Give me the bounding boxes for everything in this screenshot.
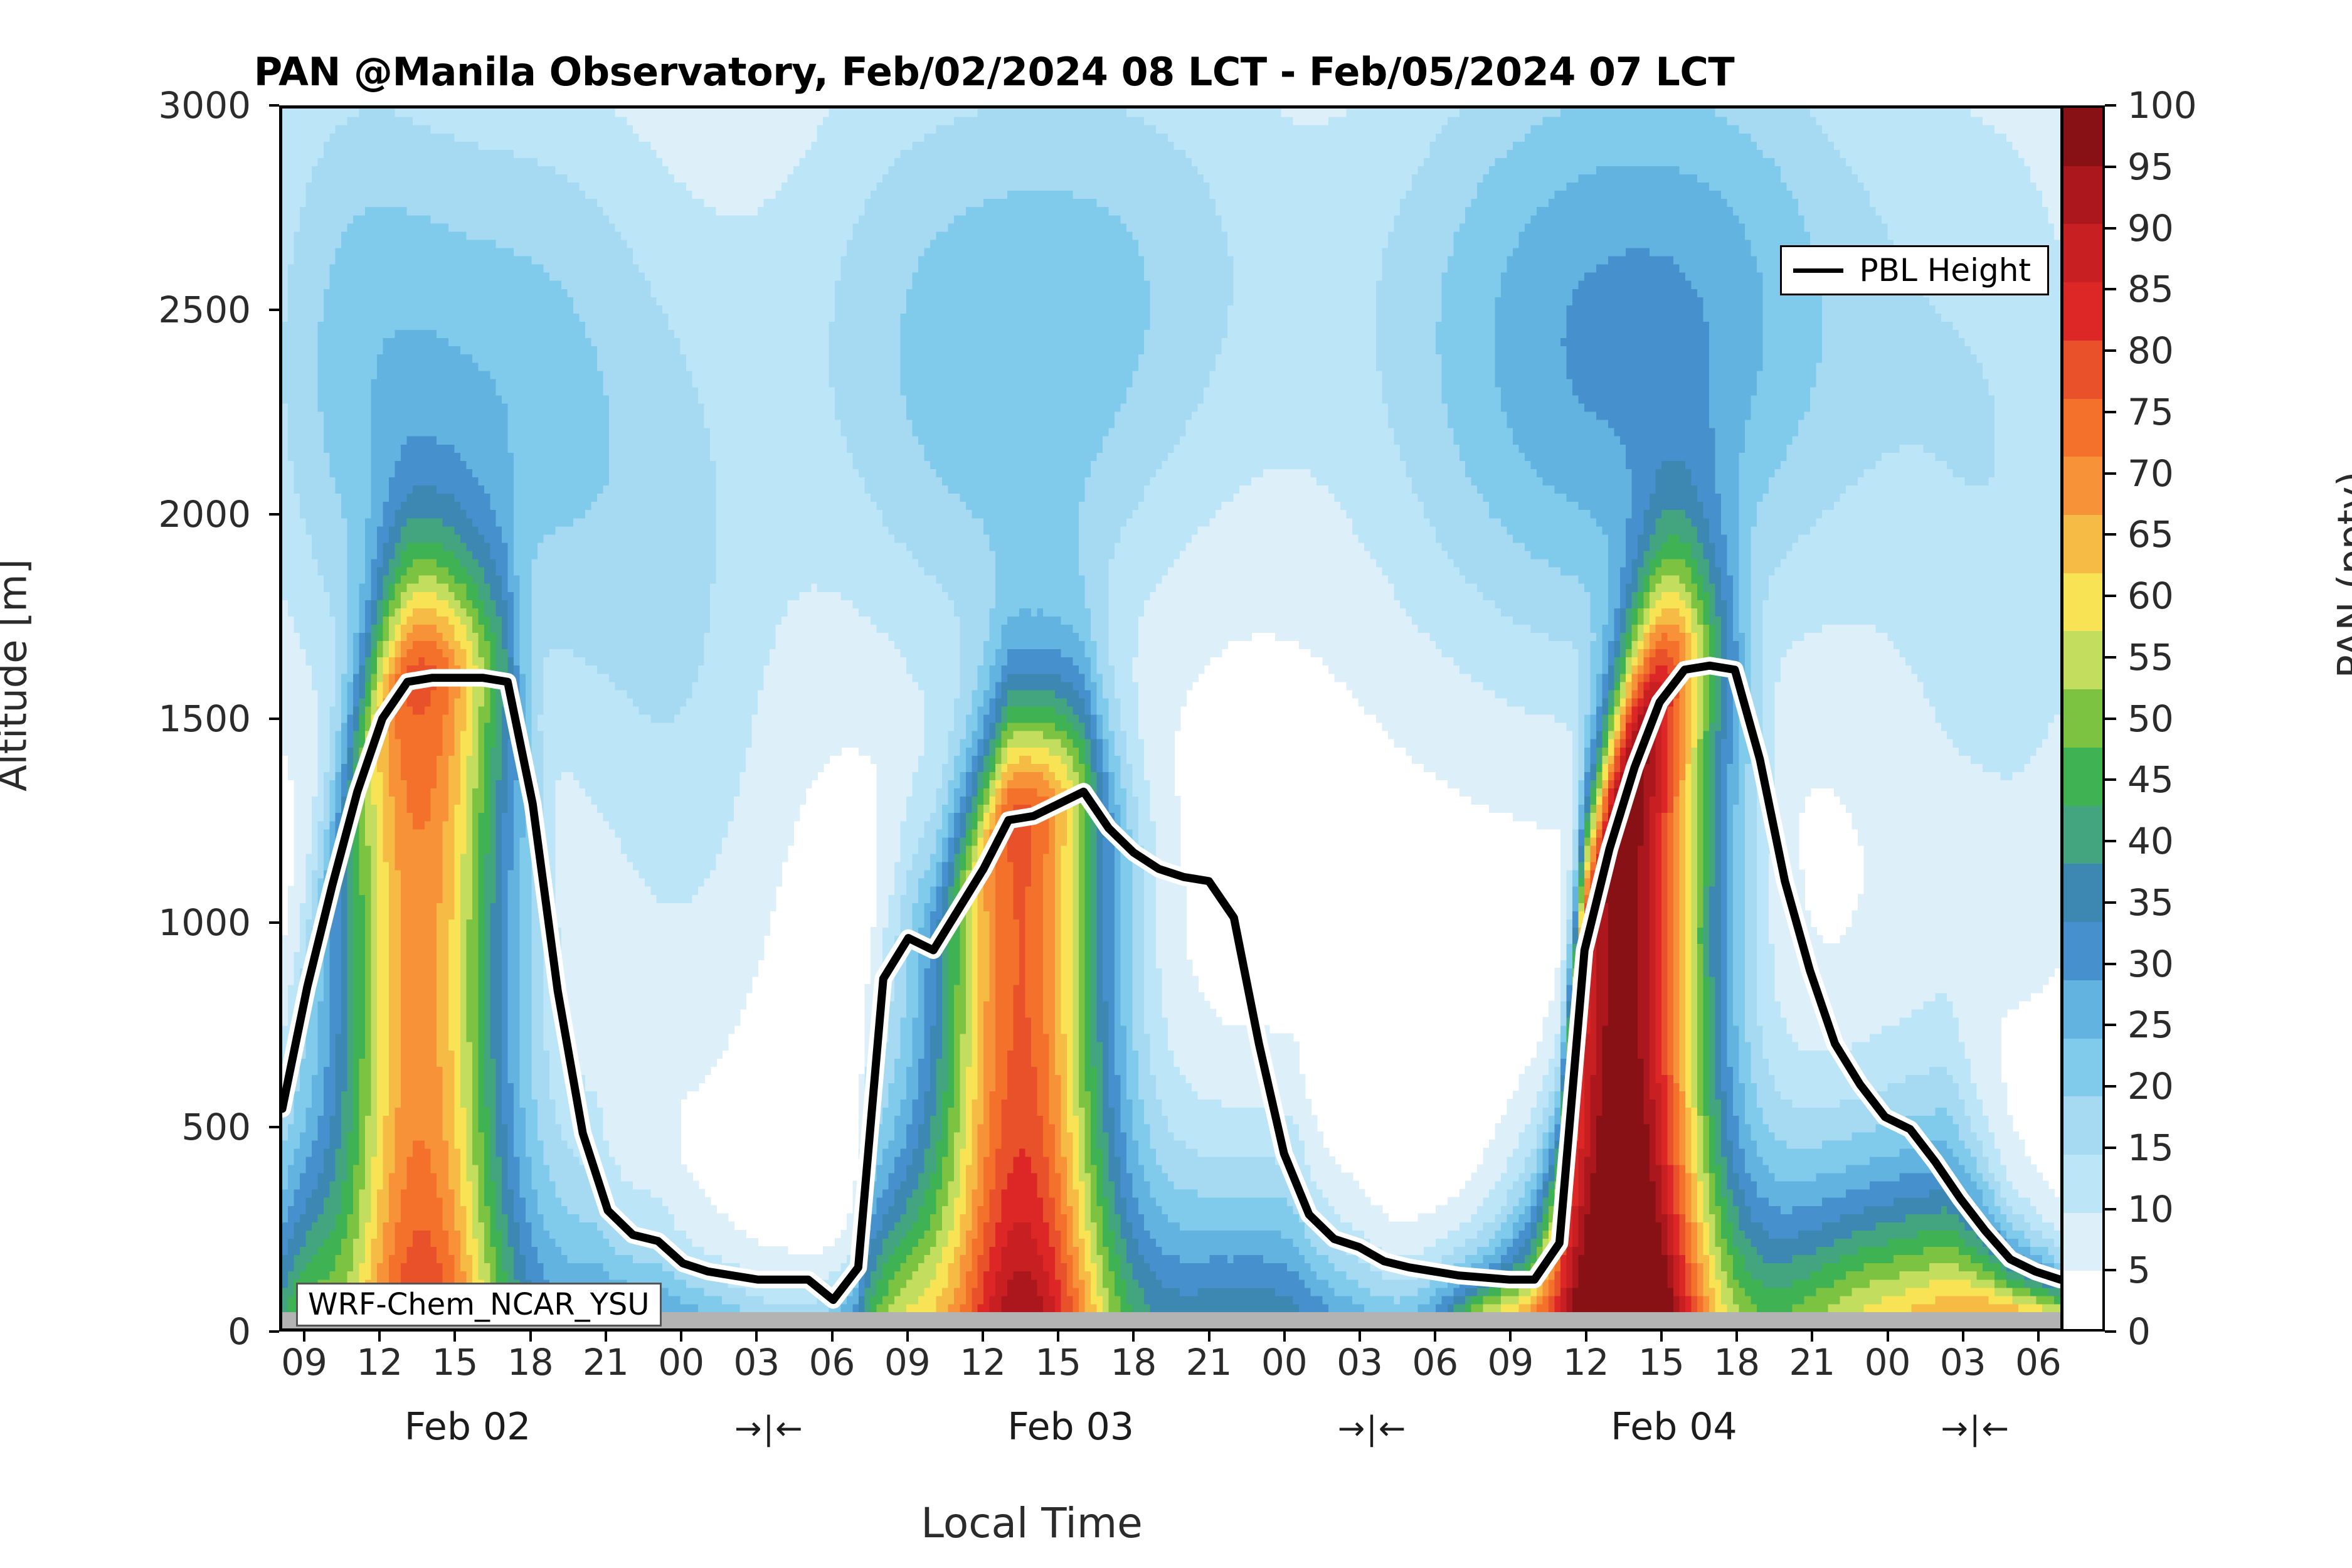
- y-axis-label: Altitude [m]: [0, 393, 36, 958]
- x-axis-tick-mark: [529, 1332, 532, 1342]
- colorbar-tick-mark: [2105, 227, 2116, 230]
- x-axis-day-separator: →|←: [1882, 1410, 2070, 1448]
- colorbar-tick-mark: [2105, 656, 2116, 659]
- colorbar-tick-mark: [2105, 1147, 2116, 1149]
- colorbar-segment: [2063, 864, 2102, 922]
- colorbar-tick-label: 90: [2127, 207, 2272, 250]
- legend-label-pbl-height: PBL Height: [1860, 252, 2032, 289]
- x-axis-tick-mark: [1660, 1332, 1663, 1342]
- colorbar-tick-mark: [2105, 533, 2116, 536]
- colorbar-segment: [2063, 573, 2102, 632]
- x-axis-tick-mark: [982, 1332, 984, 1342]
- x-axis-tick-mark: [1359, 1332, 1361, 1342]
- colorbar-tick-mark: [2105, 778, 2116, 781]
- colorbar-segment: [2063, 631, 2102, 689]
- x-axis-day-label: Feb 03: [945, 1405, 1196, 1449]
- colorbar-tick-mark: [2105, 1330, 2116, 1333]
- colorbar-tick-mark: [2105, 1208, 2116, 1210]
- colorbar-tick-label: 0: [2127, 1310, 2272, 1353]
- x-axis-day-label: Feb 02: [342, 1405, 593, 1449]
- x-axis-tick-mark: [755, 1332, 758, 1342]
- x-axis-tick-mark: [1283, 1332, 1286, 1342]
- colorbar-tick-mark: [2105, 718, 2116, 720]
- colorbar-segment: [2063, 806, 2102, 864]
- y-axis-tick-label: 1000: [44, 901, 251, 944]
- colorbar-segment: [2063, 515, 2102, 573]
- x-axis-tick-mark: [1962, 1332, 1964, 1342]
- colorbar-segment: [2063, 457, 2102, 515]
- x-axis-tick-mark: [1887, 1332, 1889, 1342]
- colorbar-segment: [2063, 748, 2102, 806]
- colorbar-tick-label: 30: [2127, 943, 2272, 985]
- colorbar-tick-mark: [2105, 901, 2116, 904]
- colorbar-tick-label: 15: [2127, 1126, 2272, 1169]
- y-axis-tick-mark: [269, 309, 279, 311]
- colorbar-tick-label: 20: [2127, 1065, 2272, 1108]
- y-axis-tick-mark: [269, 718, 279, 720]
- colorbar-segment: [2063, 980, 2102, 1039]
- y-axis-tick-label: 0: [44, 1310, 251, 1353]
- x-axis-tick-mark: [303, 1332, 305, 1342]
- y-axis-tick-mark: [269, 104, 279, 107]
- colorbar-tick-label: 80: [2127, 329, 2272, 372]
- colorbar-tick-label: 55: [2127, 636, 2272, 679]
- x-axis-tick-mark: [1585, 1332, 1587, 1342]
- colorbar-segment: [2063, 922, 2102, 980]
- x-axis-tick-mark: [1208, 1332, 1210, 1342]
- model-annotation: WRF-Chem_NCAR_YSU: [296, 1283, 662, 1327]
- x-axis-day-separator: →|←: [1278, 1410, 1466, 1448]
- colorbar-tick-label: 10: [2127, 1188, 2272, 1231]
- x-axis-day-separator: →|←: [675, 1410, 863, 1448]
- colorbar-ticks: 0510152025303540455055606570758085909510…: [2105, 105, 2130, 1332]
- colorbar-tick-mark: [2105, 166, 2116, 168]
- colorbar-tick-mark: [2105, 1269, 2116, 1271]
- x-axis-tick-mark: [605, 1332, 607, 1342]
- x-axis-tick-mark: [1434, 1332, 1436, 1342]
- colorbar-tick-label: 40: [2127, 820, 2272, 862]
- x-axis-day-label: Feb 04: [1549, 1405, 1799, 1449]
- colorbar-tick-label: 95: [2127, 146, 2272, 188]
- colorbar-segment: [2063, 282, 2102, 341]
- colorbar-tick-label: 5: [2127, 1249, 2272, 1291]
- colorbar-segment: [2063, 108, 2102, 166]
- x-axis-tick-mark: [1509, 1332, 1512, 1342]
- colorbar-segment: [2063, 1096, 2102, 1155]
- colorbar-tick-label: 85: [2127, 268, 2272, 310]
- y-axis-tick-mark: [269, 921, 279, 924]
- model-annotation-text: WRF-Chem_NCAR_YSU: [308, 1287, 650, 1322]
- x-axis-tick-label: 06: [1988, 1341, 2089, 1384]
- page-title: PAN @Manila Observatory, Feb/02/2024 08 …: [0, 49, 1988, 95]
- x-axis-tick-mark: [1057, 1332, 1059, 1342]
- colorbar-label: PAN (pptv): [2329, 293, 2352, 857]
- colorbar-segment: [2063, 689, 2102, 748]
- x-axis-tick-mark: [378, 1332, 381, 1342]
- y-axis-tick-label: 2000: [44, 493, 251, 536]
- colorbar-tick-label: 25: [2127, 1004, 2272, 1046]
- colorbar-segment: [2063, 341, 2102, 399]
- x-axis-tick-mark: [831, 1332, 834, 1342]
- colorbar-segment: [2063, 1271, 2102, 1329]
- pbl-height-line-swatch: [1793, 268, 1843, 273]
- y-axis-tick-mark: [269, 1330, 279, 1333]
- colorbar-segment: [2063, 1213, 2102, 1271]
- y-axis-tick-label: 1500: [44, 697, 251, 740]
- colorbar-tick-mark: [2105, 840, 2116, 842]
- colorbar-tick-label: 70: [2127, 452, 2272, 495]
- colorbar-segment: [2063, 166, 2102, 225]
- colorbar-tick-mark: [2105, 595, 2116, 597]
- colorbar-tick-label: 45: [2127, 758, 2272, 801]
- x-axis-tick-mark: [453, 1332, 456, 1342]
- colorbar-tick-mark: [2105, 963, 2116, 965]
- colorbar-tick-label: 75: [2127, 391, 2272, 433]
- x-axis-tick-mark: [1132, 1332, 1135, 1342]
- y-axis-tick-label: 2500: [44, 289, 251, 331]
- colorbar-tick-mark: [2105, 1085, 2116, 1088]
- colorbar-tick-mark: [2105, 349, 2116, 352]
- x-axis-tick-mark: [680, 1332, 682, 1342]
- colorbar-tick-label: 35: [2127, 881, 2272, 924]
- x-axis-tick-mark: [1811, 1332, 1813, 1342]
- x-axis-tick-mark: [2037, 1332, 2040, 1342]
- y-axis-tick-mark: [269, 513, 279, 516]
- y-axis-tick-label: 500: [44, 1106, 251, 1148]
- y-axis-tick-mark: [269, 1126, 279, 1128]
- colorbar-tick-label: 100: [2127, 84, 2272, 127]
- x-axis-tick-mark: [906, 1332, 909, 1342]
- colorbar-tick-mark: [2105, 472, 2116, 475]
- colorbar-tick-mark: [2105, 1024, 2116, 1026]
- colorbar-tick-mark: [2105, 104, 2116, 107]
- colorbar-tick-mark: [2105, 288, 2116, 290]
- colorbar-segment: [2063, 399, 2102, 457]
- colorbar-tick-label: 50: [2127, 697, 2272, 740]
- colorbar-tick-label: 65: [2127, 513, 2272, 556]
- x-axis-tick-mark: [1735, 1332, 1738, 1342]
- colorbar-segment: [2063, 1155, 2102, 1213]
- x-axis-label: Local Time: [0, 1499, 2063, 1547]
- colorbar-segment: [2063, 224, 2102, 282]
- colorbar: [2061, 105, 2105, 1332]
- legend: PBL Height: [1780, 245, 2050, 295]
- colorbar-segment: [2063, 1039, 2102, 1097]
- contour-plot: PBL Height WRF-Chem_NCAR_YSU: [279, 105, 2063, 1332]
- colorbar-tick-mark: [2105, 411, 2116, 413]
- colorbar-tick-label: 60: [2127, 575, 2272, 617]
